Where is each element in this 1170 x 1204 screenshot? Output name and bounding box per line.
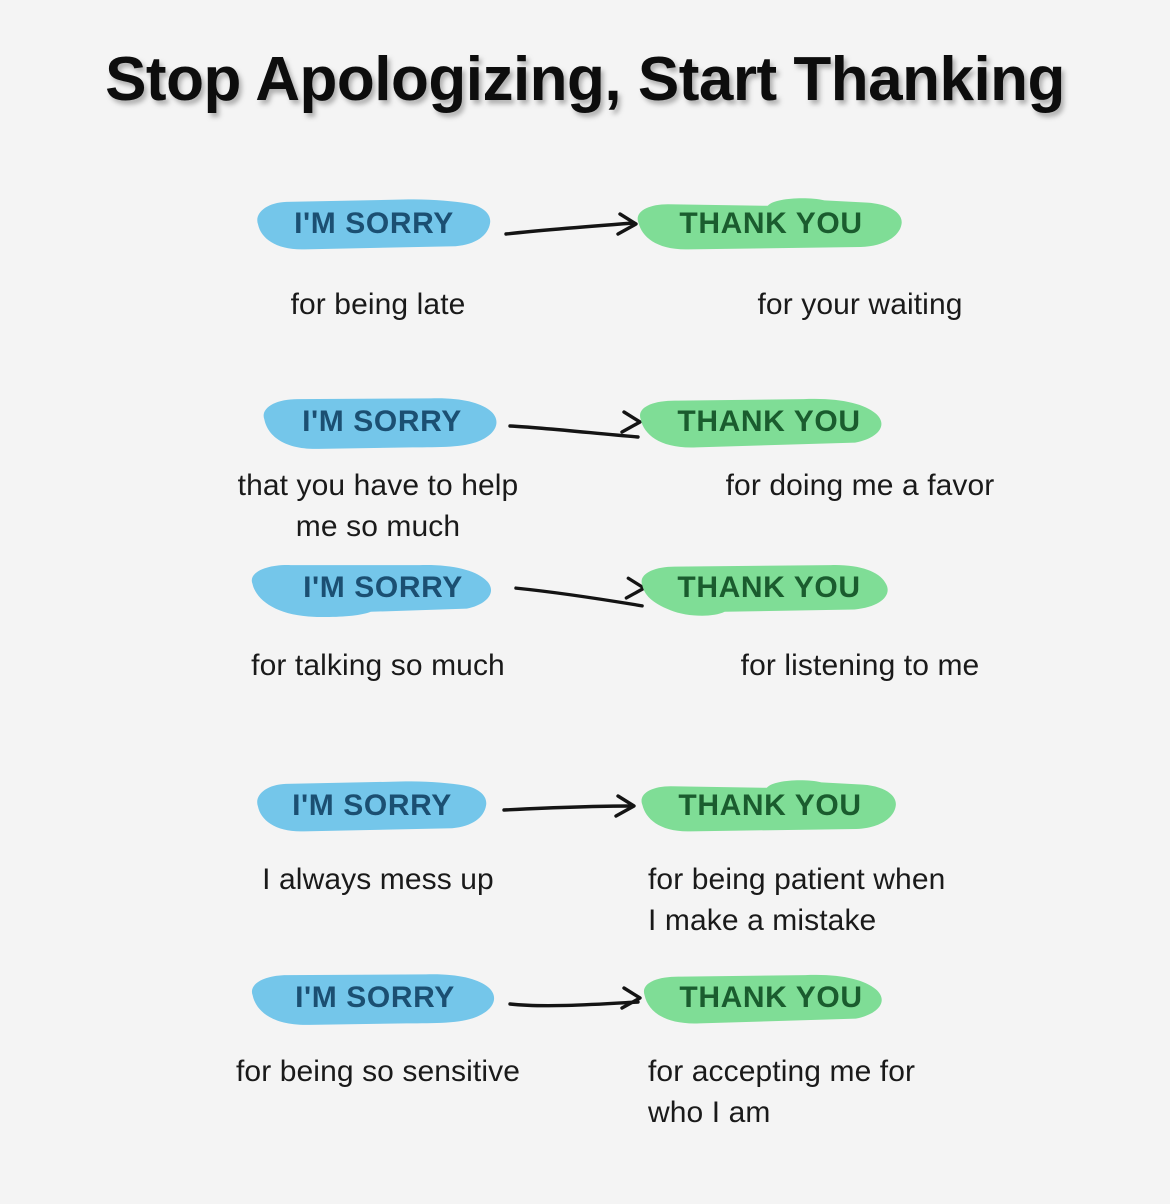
sorry-label: I'M SORRY: [303, 571, 463, 604]
sorry-label: I'M SORRY: [302, 405, 462, 438]
thank-label: THANK YOU: [679, 981, 862, 1014]
caption-line: that you have to help: [28, 466, 728, 507]
arrow-right-icon: [506, 410, 646, 450]
thank-caption: for being patient whenI make a mistake: [648, 860, 1068, 941]
caption-line: who I am: [648, 1093, 1068, 1134]
caption-line: for accepting me for: [648, 1052, 1068, 1093]
thank-label: THANK YOU: [677, 571, 860, 604]
thank-chip[interactable]: THANK YOU: [644, 974, 898, 1024]
sorry-chip[interactable]: I'M SORRY: [258, 200, 490, 250]
sorry-chip[interactable]: I'M SORRY: [250, 974, 500, 1024]
sorry-label: I'M SORRY: [294, 207, 454, 240]
thank-label: THANK YOU: [678, 789, 861, 822]
comparison-list: I'M SORRYTHANK YOUfor being latefor your…: [0, 0, 1170, 1204]
sorry-label: I'M SORRY: [292, 789, 452, 822]
thank-chip[interactable]: THANK YOU: [644, 782, 896, 832]
thank-caption: for your waiting: [630, 285, 1090, 326]
thank-chip[interactable]: THANK YOU: [640, 398, 898, 448]
caption-line: me so much: [28, 507, 728, 548]
sorry-caption: for talking so much: [28, 646, 728, 687]
thank-caption: for doing me a favor: [630, 466, 1090, 507]
sorry-label: I'M SORRY: [295, 981, 455, 1014]
thank-chip[interactable]: THANK YOU: [640, 200, 902, 250]
thank-caption: for listening to me: [630, 646, 1090, 687]
caption-line: for talking so much: [28, 646, 728, 687]
thank-chip[interactable]: THANK YOU: [644, 564, 894, 614]
arrow-right-icon: [498, 212, 646, 252]
sorry-caption: for being so sensitive: [28, 1052, 728, 1093]
thank-caption: for accepting me forwho I am: [648, 1052, 1068, 1133]
caption-line: for doing me a favor: [630, 466, 1090, 507]
arrow-right-icon: [490, 794, 650, 834]
thank-label: THANK YOU: [677, 405, 860, 438]
caption-line: for being so sensitive: [28, 1052, 728, 1093]
sorry-chip[interactable]: I'M SORRY: [258, 782, 486, 832]
caption-line: I make a mistake: [648, 901, 1068, 942]
caption-line: for being late: [28, 285, 728, 326]
arrow-right-icon: [512, 576, 650, 616]
sorry-chip[interactable]: I'M SORRY: [254, 564, 512, 614]
sorry-chip[interactable]: I'M SORRY: [262, 398, 502, 448]
caption-line: for being patient when: [648, 860, 1068, 901]
sorry-caption: I always mess up: [28, 860, 728, 901]
thank-label: THANK YOU: [679, 207, 862, 240]
sorry-caption: that you have to helpme so much: [28, 466, 728, 547]
caption-line: for listening to me: [630, 646, 1090, 687]
caption-line: for your waiting: [630, 285, 1090, 326]
caption-line: I always mess up: [28, 860, 728, 901]
infographic-page: { "page": { "title": "Stop Apologizing, …: [0, 0, 1170, 1204]
sorry-caption: for being late: [28, 285, 728, 326]
arrow-right-icon: [502, 986, 650, 1026]
